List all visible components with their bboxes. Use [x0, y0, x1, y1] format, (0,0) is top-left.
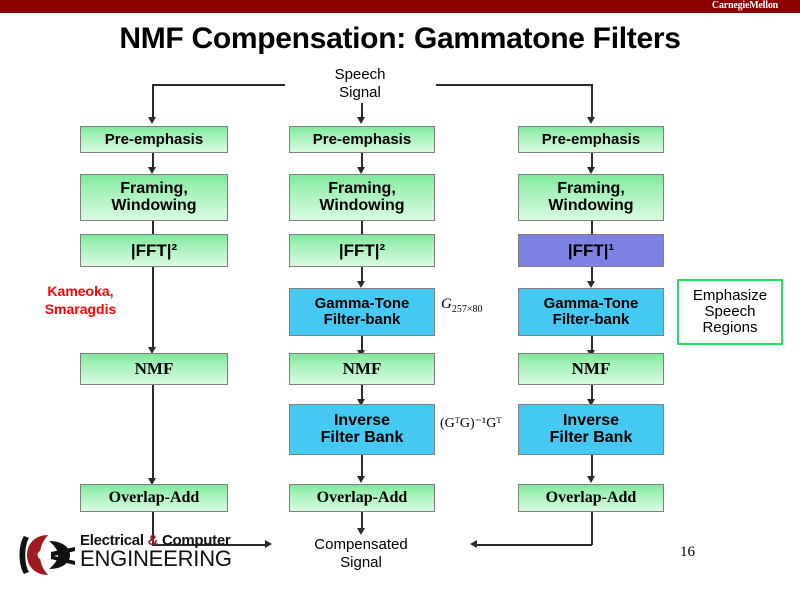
arrow-gammatone-1 [357, 167, 365, 174]
connector-magnitude-6 [591, 455, 593, 477]
block-gammatone-filterbank[interactable]: Gamma-Tone Filter-bank [289, 288, 435, 336]
block-magnitude-framing-windowing[interactable]: Framing, Windowing [518, 174, 664, 221]
block-magnitude-fft[interactable]: |FFT|¹ [518, 234, 664, 267]
block-gammatone-framing-windowing[interactable]: Framing, Windowing [289, 174, 435, 221]
arrow-magnitude-6 [587, 476, 595, 483]
connector-magnitude-out-horizontal [477, 544, 592, 546]
arrow-magnitude-1 [587, 167, 595, 174]
block-magnitude-pre-emphasis[interactable]: Pre-emphasis [518, 126, 664, 153]
block-baseline-fft[interactable]: |FFT|² [80, 234, 228, 267]
block-gammatone-inverse-filter-bank[interactable]: Inverse Filter Bank [289, 404, 435, 455]
arrow-gammatone-out [357, 528, 365, 535]
block-magnitude-nmf[interactable]: NMF [518, 353, 664, 385]
ece-logo-mark [18, 532, 76, 578]
connector-magnitude-out-vertical [591, 512, 593, 545]
arrow-magnitude-3 [587, 281, 595, 288]
slide-canvas: CarnegieMellon NMF Compensation: Gammato… [0, 0, 800, 599]
carnegie-mellon-band [0, 0, 800, 13]
arrow-gammatone-3 [357, 281, 365, 288]
block-baseline-nmf[interactable]: NMF [80, 353, 228, 385]
ece-logo: Electrical & Computer ENGINEERING [18, 532, 233, 580]
connector-baseline-4 [152, 385, 154, 480]
label-gammatone-matrix-sub: 257×80 [452, 304, 483, 315]
input-label: Speech Signal [285, 66, 435, 101]
connector-right-drop [591, 84, 593, 119]
connector-baseline-3 [152, 267, 154, 349]
block-gammatone-fft[interactable]: |FFT|² [289, 234, 435, 267]
arrow-baseline-1 [148, 167, 156, 174]
arrow-center-drop [357, 117, 365, 124]
page-number: 16 [680, 544, 695, 561]
arrow-gammatone-6 [357, 476, 365, 483]
arrow-magnitude-out [470, 540, 477, 548]
page-title: NMF Compensation: Gammatone Filters [0, 22, 800, 56]
label-gammatone-matrix-base: G [441, 296, 452, 312]
block-baseline-pre-emphasis[interactable]: Pre-emphasis [80, 126, 228, 153]
connector-top-left-horizontal [152, 84, 285, 86]
block-gammatone-overlap-add[interactable]: Overlap-Add [289, 484, 435, 512]
label-gammatone-matrix: G257×80 [441, 296, 482, 315]
connector-gammatone-6 [361, 455, 363, 477]
ece-logo-text: Electrical & Computer ENGINEERING [80, 532, 232, 572]
note-kameoka-smaragdis: Kameoka, Smaragdis [18, 283, 143, 318]
connector-top-right-horizontal [436, 84, 592, 86]
arrow-left-drop [148, 117, 156, 124]
output-label: Compensated Signal [281, 536, 441, 571]
ece-logo-line2: ENGINEERING [80, 546, 232, 572]
block-magnitude-overlap-add[interactable]: Overlap-Add [518, 484, 664, 512]
connector-left-drop [152, 84, 154, 119]
block-baseline-framing-windowing[interactable]: Framing, Windowing [80, 174, 228, 221]
block-gammatone-pre-emphasis[interactable]: Pre-emphasis [289, 126, 435, 153]
block-magnitude-inverse-filter-bank[interactable]: Inverse Filter Bank [518, 404, 664, 455]
arrow-right-drop [587, 117, 595, 124]
arrow-baseline-out [265, 540, 272, 548]
carnegie-mellon-wordmark: CarnegieMellon [712, 0, 778, 12]
block-magnitude-filterbank[interactable]: Gamma-Tone Filter-bank [518, 288, 664, 336]
callout-emphasize-speech-regions: Emphasize Speech Regions [677, 279, 783, 345]
label-inverse-matrix: (GᵀG)⁻¹Gᵀ [440, 415, 501, 432]
block-gammatone-nmf[interactable]: NMF [289, 353, 435, 385]
block-baseline-overlap-add[interactable]: Overlap-Add [80, 484, 228, 512]
